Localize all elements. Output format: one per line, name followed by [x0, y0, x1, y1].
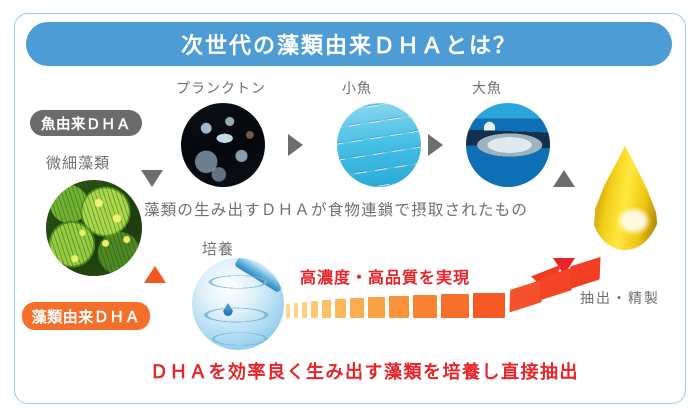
- rising-arrow-icon: [286, 258, 576, 320]
- rising-arrow-segment: [350, 298, 364, 318]
- rising-arrow-segment: [473, 293, 505, 318]
- page-title: 次世代の藻類由来ＤＨＡとは？: [181, 28, 517, 60]
- image-culture: [192, 258, 284, 350]
- rising-arrow-segment: [509, 280, 542, 313]
- rising-arrow-segment: [368, 297, 385, 318]
- triangle-right-icon-2: [428, 134, 443, 156]
- rising-arrow-segment: [302, 302, 307, 318]
- tag-algae-dha: 藻類由来ＤＨＡ: [22, 302, 150, 330]
- triangle-up-icon-gray: [553, 170, 575, 187]
- rising-arrow-segment: [413, 295, 437, 318]
- tag-fish-dha-label: 魚由来ＤＨＡ: [41, 113, 131, 134]
- label-plankton: プランクトン: [176, 78, 266, 98]
- rising-arrow-segment: [286, 304, 290, 318]
- label-big-fish: 大魚: [472, 78, 502, 98]
- rising-arrow-segment: [311, 301, 318, 318]
- infographic-root: 次世代の藻類由来ＤＨＡとは？ 魚由来ＤＨＡ プランクトン 小魚 大魚 微細藻類 …: [0, 0, 700, 417]
- image-big-fish: [466, 103, 550, 187]
- droplet-small-icon: [223, 303, 233, 316]
- triangle-up-icon-orange: [144, 266, 166, 283]
- tag-algae-dha-label: 藻類由来ＤＨＡ: [32, 306, 141, 327]
- rising-arrow-segment: [335, 299, 346, 318]
- label-culture: 培養: [202, 238, 234, 259]
- caption-bottom-message: ＤＨＡを効率良く生み出す藻類を培養し直接抽出: [150, 358, 579, 384]
- triangle-right-icon-1: [288, 134, 303, 156]
- rising-arrow-segment: [294, 303, 298, 318]
- label-microalgae: 微細藻類: [46, 152, 110, 173]
- label-extraction: 抽出・精製: [580, 288, 660, 308]
- rising-arrow-segment: [322, 300, 331, 318]
- image-small-fish: [337, 103, 421, 187]
- image-microalgae: [46, 180, 142, 276]
- triangle-down-icon-gray: [141, 170, 163, 187]
- title-bar: 次世代の藻類由来ＤＨＡとは？: [26, 22, 672, 66]
- rising-arrow-segment: [389, 296, 409, 318]
- caption-food-chain: 藻類の生み出すＤＨＡが食物連鎖で摂取されたもの: [144, 198, 528, 220]
- image-plankton: [181, 103, 265, 187]
- tag-fish-dha: 魚由来ＤＨＡ: [30, 110, 142, 136]
- pipette-icon: [234, 258, 284, 293]
- rising-arrow-segment: [441, 294, 469, 318]
- label-small-fish: 小魚: [342, 78, 372, 98]
